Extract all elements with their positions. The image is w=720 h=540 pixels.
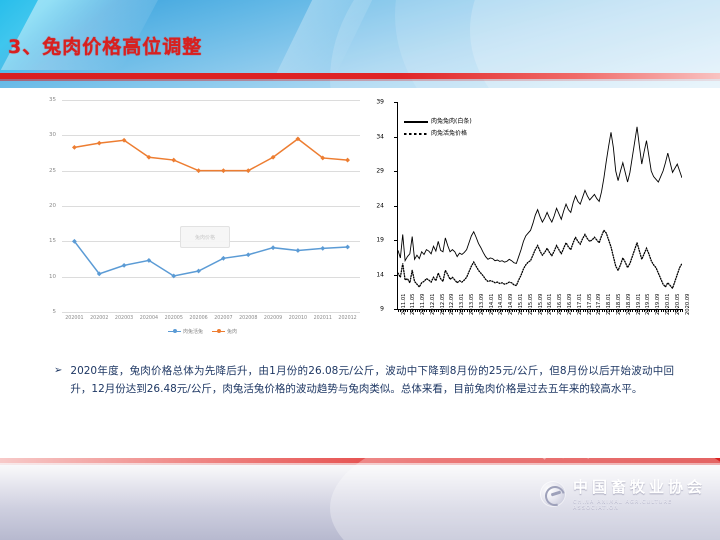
legend-label: 肉兔兔肉(白条) <box>431 116 472 128</box>
x-axis-tick-label: 2019.01 <box>636 294 642 315</box>
x-axis-tick-label: 2015.09 <box>538 294 544 315</box>
series-marker <box>221 168 226 173</box>
x-axis-tick-label: 2020.05 <box>675 294 681 315</box>
x-axis-tick-label: 2020.09 <box>685 294 691 315</box>
x-axis-tick <box>604 309 605 312</box>
x-axis-tick-label: 2011.01 <box>401 294 407 315</box>
series-marker <box>345 245 350 250</box>
x-axis-tick <box>632 309 633 312</box>
series-marker <box>320 246 325 251</box>
y-axis-tick-label: 24 <box>360 202 384 209</box>
x-axis-tick <box>417 309 418 312</box>
x-axis-tick-label: 2018.09 <box>626 294 632 315</box>
x-axis-tick <box>535 309 536 312</box>
chart-monthly-2020: 5101520253035202001202002202003202004202… <box>28 96 368 344</box>
x-axis-tick-label: 2019.09 <box>655 294 661 315</box>
x-axis-tick-label: 2014.09 <box>508 294 514 315</box>
series-marker <box>345 158 350 163</box>
x-axis-tick-label: 202005 <box>165 316 183 321</box>
x-axis-tick-label: 202002 <box>90 316 108 321</box>
y-axis-tick-label: 25 <box>28 168 56 174</box>
y-axis-tick-label: 29 <box>360 168 384 175</box>
x-axis-tick-label: 202006 <box>189 316 207 321</box>
x-axis-tick <box>651 309 652 312</box>
x-axis-tick <box>467 309 468 312</box>
series-line-肉兔活兔价格 <box>398 230 682 288</box>
y-axis-tick-label: 39 <box>360 99 384 106</box>
x-axis-tick-label: 2014.05 <box>498 294 504 315</box>
x-axis-tick-label: 2015.05 <box>528 294 534 315</box>
legend-swatch <box>404 121 428 123</box>
x-axis-tick <box>573 309 574 312</box>
x-axis-tick <box>505 309 506 312</box>
x-axis-tick-label: 202012 <box>338 316 356 321</box>
chart-watermark: 兔肉价格 <box>180 226 230 248</box>
summary-bullet: ➢ 2020年度，兔肉价格总体为先降后升，由1月份的26.08元/公斤，波动中下… <box>54 362 674 398</box>
x-axis-tick <box>407 309 408 312</box>
y-axis-tick-label: 14 <box>360 271 384 278</box>
x-axis-tick <box>514 309 515 312</box>
series-marker <box>196 168 201 173</box>
x-axis-tick <box>564 309 565 312</box>
left-chart-plot-area: 5101520253035202001202002202003202004202… <box>62 100 360 312</box>
association-logo: 中国畜牧业协会 CHINA ANIMAL AGRICULTURE ASSOCIA… <box>540 476 720 511</box>
legend-label: 肉兔活兔 <box>183 328 203 335</box>
x-axis-tick-label: 2012.09 <box>449 294 455 315</box>
x-axis-tick-label: 202001 <box>65 316 83 321</box>
series-marker <box>72 145 77 150</box>
x-axis-tick <box>585 309 586 312</box>
legend-item[interactable]: 肉兔活兔 <box>168 328 203 335</box>
legend-item[interactable]: 肉兔活兔价格 <box>404 128 472 140</box>
x-axis-tick <box>495 309 496 312</box>
x-axis-tick <box>476 309 477 312</box>
x-axis-tick-label: 202004 <box>140 316 158 321</box>
x-axis-tick <box>436 309 437 312</box>
y-axis-tick-label: 9 <box>360 306 384 313</box>
x-axis-tick <box>663 309 664 312</box>
header-red-rule-shadow <box>0 79 720 81</box>
x-axis-tick <box>486 309 487 312</box>
logo-name-en: CHINA ANIMAL AGRICULTURE ASSOCIATION <box>573 499 720 511</box>
legend-swatch <box>404 133 428 135</box>
gridline <box>62 312 360 313</box>
x-axis-tick <box>682 309 683 312</box>
chart-longterm-2011-2020: 91419242934392011.012011.052011.092012.0… <box>372 96 692 344</box>
y-axis-tick-label: 30 <box>28 132 56 138</box>
x-axis-tick-label: 202011 <box>314 316 332 321</box>
legend-item[interactable]: 兔肉 <box>212 328 237 335</box>
series-marker <box>246 252 251 257</box>
x-axis-tick-label: 2018.05 <box>616 294 622 315</box>
bullet-marker-icon: ➢ <box>54 362 62 398</box>
x-axis-tick-label: 2013.05 <box>469 294 475 315</box>
x-axis-tick-label: 2013.01 <box>459 294 465 315</box>
x-axis-tick <box>545 309 546 312</box>
x-axis-tick-label: 2011.05 <box>410 294 416 315</box>
x-axis-tick-label: 202007 <box>214 316 232 321</box>
x-axis-tick-label: 2014.01 <box>489 294 495 315</box>
x-axis-tick <box>526 309 527 312</box>
legend-swatch <box>168 331 181 333</box>
x-axis-tick-label: 202008 <box>239 316 257 321</box>
page-title: 3、兔肉价格高位调整 <box>8 32 202 59</box>
x-axis-tick-label: 202003 <box>115 316 133 321</box>
x-axis-tick-label: 2017.09 <box>596 294 602 315</box>
left-chart-series-layer <box>62 100 360 312</box>
x-axis-tick-label: 2012.05 <box>440 294 446 315</box>
series-marker <box>271 245 276 250</box>
y-axis-tick-label: 34 <box>360 133 384 140</box>
legend-swatch <box>212 331 225 333</box>
x-axis-tick-label: 2016.01 <box>547 294 553 315</box>
x-axis-tick-label: 2013.09 <box>479 294 485 315</box>
x-axis-tick-label: 202009 <box>264 316 282 321</box>
legend-label: 肉兔活兔价格 <box>431 128 467 140</box>
x-axis-tick-label: 2015.01 <box>518 294 524 315</box>
x-axis-tick-label: 2012.01 <box>430 294 436 315</box>
x-axis-tick <box>613 309 614 312</box>
series-marker <box>122 263 127 268</box>
x-axis-tick-label: 2016.09 <box>567 294 573 315</box>
legend-item[interactable]: 肉兔兔肉(白条) <box>404 116 472 128</box>
x-axis-tick <box>673 309 674 312</box>
series-marker <box>296 248 301 253</box>
y-axis-tick-label: 20 <box>28 203 56 209</box>
x-axis-tick-label: 2011.09 <box>420 294 426 315</box>
y-axis-tick-label: 35 <box>28 97 56 103</box>
logo-name-cn: 中国畜牧业协会 <box>573 476 720 497</box>
x-axis-tick-label: 2016.05 <box>557 294 563 315</box>
y-axis-tick-label: 5 <box>28 309 56 315</box>
y-axis-tick-label: 15 <box>28 238 56 244</box>
x-axis-tick-label: 2018.01 <box>606 294 612 315</box>
x-axis-tick-label: 2017.01 <box>577 294 583 315</box>
x-axis-tick-label: 2019.05 <box>645 294 651 315</box>
x-axis-tick <box>426 309 427 312</box>
x-axis-tick <box>623 309 624 312</box>
slide-footer: 中国畜牧业协会 CHINA ANIMAL AGRICULTURE ASSOCIA… <box>0 458 720 540</box>
x-axis-tick <box>398 309 399 312</box>
x-axis-tick <box>554 309 555 312</box>
bullet-text: 2020年度，兔肉价格总体为先降后升，由1月份的26.08元/公斤，波动中下降到… <box>70 362 674 398</box>
y-axis-tick-label: 19 <box>360 237 384 244</box>
x-axis-tick <box>457 309 458 312</box>
series-line-兔肉 <box>74 139 347 171</box>
right-chart-legend: 肉兔兔肉(白条)肉兔活兔价格 <box>404 116 472 140</box>
x-axis-tick-label: 202010 <box>289 316 307 321</box>
series-line-肉兔兔肉(白条) <box>398 127 682 264</box>
x-axis-tick-label: 2017.05 <box>587 294 593 315</box>
series-marker <box>171 158 176 163</box>
circle-swoosh-logo-icon <box>540 481 566 507</box>
x-axis-tick-label: 2020.01 <box>665 294 671 315</box>
left-chart-legend: 肉兔活兔兔肉 <box>168 328 237 335</box>
legend-label: 兔肉 <box>227 328 237 335</box>
y-axis-tick-label: 10 <box>28 274 56 280</box>
series-marker <box>97 141 102 146</box>
